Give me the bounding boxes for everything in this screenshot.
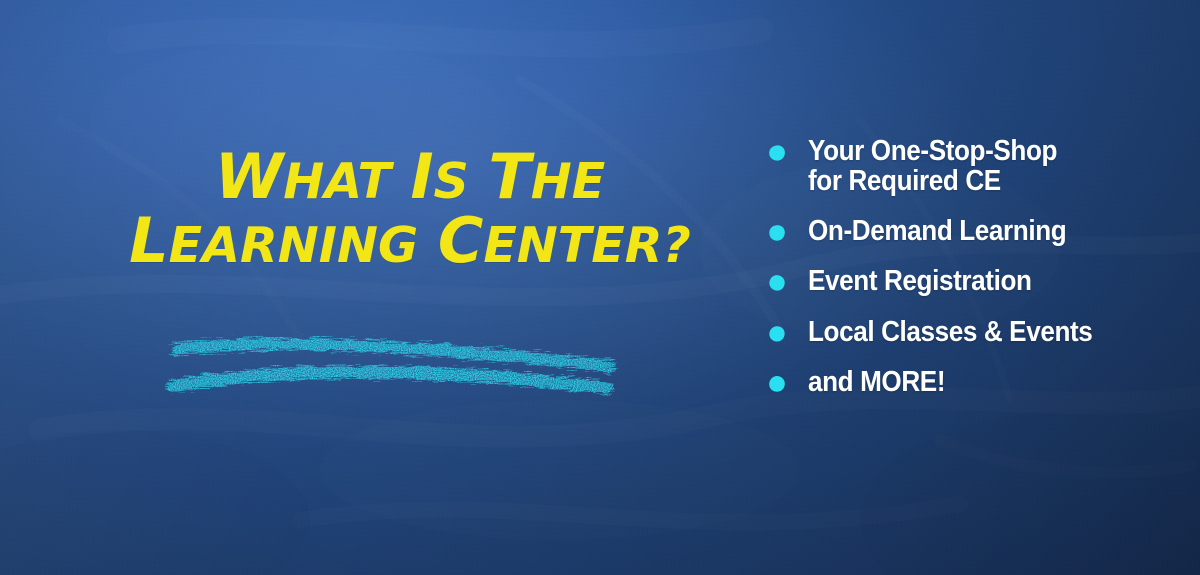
headline-block: WHAT IS THE LEARNING CENTER?: [60, 148, 760, 271]
list-item-label: and MORE!: [808, 367, 945, 397]
chalk-dot-icon: [768, 144, 786, 166]
learning-center-promo-banner: WHAT IS THE LEARNING CENTER?: [0, 0, 1200, 575]
list-item: Your One-Stop-Shop for Required CE: [768, 136, 1188, 196]
chalk-dot-icon: [768, 375, 786, 397]
chalk-dot-icon: [768, 325, 786, 347]
headline-line-2: LEARNING CENTER?: [60, 212, 760, 270]
feature-bullet-list: Your One-Stop-Shop for Required CE On-De…: [768, 136, 1188, 397]
list-item-label: Your One-Stop-Shop for Required CE: [808, 136, 1057, 196]
chalk-dot-icon: [768, 224, 786, 246]
list-item-label: Local Classes & Events: [808, 317, 1092, 347]
list-item: and MORE!: [768, 367, 1188, 397]
list-item-label: Event Registration: [808, 266, 1032, 296]
list-item-label: On-Demand Learning: [808, 216, 1066, 246]
list-item: Local Classes & Events: [768, 317, 1188, 347]
list-item: On-Demand Learning: [768, 216, 1188, 246]
list-item: Event Registration: [768, 266, 1188, 296]
headline-line-1: WHAT IS THE: [60, 148, 760, 206]
chalk-dot-icon: [768, 274, 786, 296]
